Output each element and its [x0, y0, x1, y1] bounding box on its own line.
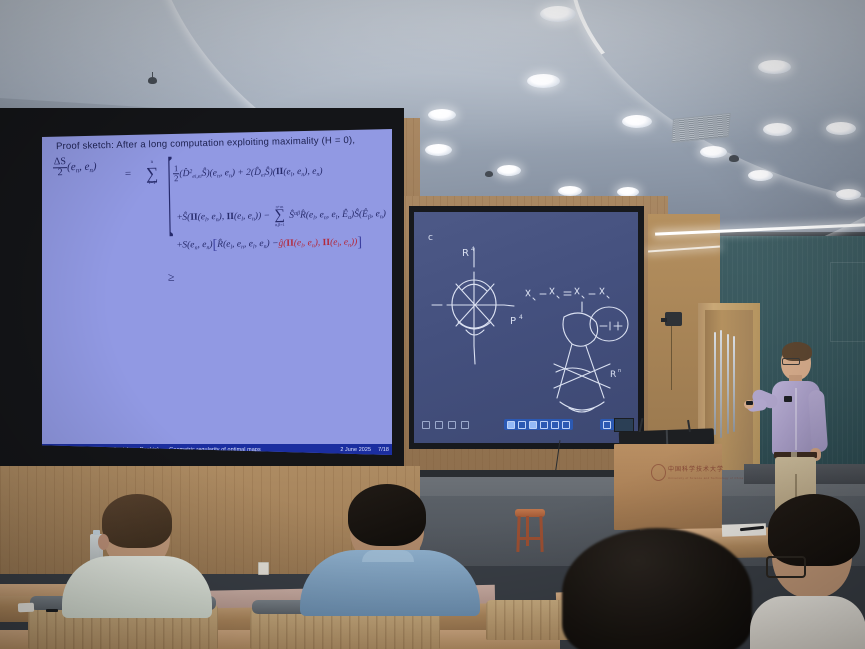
ceiling-downlight	[527, 74, 560, 88]
stool-leg	[526, 516, 529, 546]
podium-seal	[651, 464, 666, 481]
slide-summation: n ∑ l=1	[146, 161, 159, 187]
ceiling-camera	[729, 155, 739, 162]
slide-geq: ≥	[168, 270, 175, 285]
slide-sum2-lower: α,β=1	[275, 223, 286, 227]
pen-icon[interactable]	[507, 421, 515, 429]
whiteboard-label-p4: P	[510, 316, 516, 327]
slide-sum-symbol: ∑	[146, 165, 158, 181]
audience-ear	[98, 534, 109, 550]
slide-lhs-denominator: 2	[53, 168, 67, 179]
layers-icon[interactable]	[422, 421, 430, 429]
ceiling-camera-stem	[152, 72, 153, 78]
ceiling-downlight	[826, 122, 856, 135]
presenter-shirt-placket	[795, 388, 797, 450]
speaker-bracket	[661, 318, 667, 322]
plus-icon[interactable]	[603, 421, 611, 429]
eraser-icon[interactable]	[529, 421, 537, 429]
svg-text:n: n	[618, 368, 621, 374]
audience-member-3	[552, 528, 762, 649]
acoustic-panel-seam	[830, 262, 865, 342]
podium	[614, 444, 722, 530]
ceiling-downlight	[497, 165, 521, 176]
slide-lhs: ΔS 2 (en, en)	[53, 157, 97, 179]
slide-formula-line-3: +S(en, en)[R̂(el, en, el, en) −ĝ(II(el, …	[177, 237, 362, 251]
ceiling-downlight	[836, 189, 861, 200]
ceiling-camera	[485, 171, 493, 177]
audience-glasses	[766, 556, 806, 578]
whiteboard-ink: c R 4 P 4 R n	[414, 212, 638, 443]
audience-hair	[562, 528, 752, 649]
door-handle[interactable]	[714, 332, 716, 435]
slide-footer-date: 2 June 2025	[340, 447, 371, 453]
slide-formula-line-1: 12(D̂2el,elŜ)(en, en) + 2(D̂elŜ)(II(el, …	[173, 162, 323, 183]
slide-sum2-block: n+m ∑ α,β=1	[274, 205, 285, 227]
audience-member-2	[300, 488, 480, 616]
shapes-icon[interactable]	[448, 421, 456, 429]
podium-logo-text: 中国科学技术大学	[668, 464, 724, 473]
podium-logo-subtext: University of Science and Technology of …	[668, 476, 744, 480]
pen	[46, 609, 58, 612]
audience-member-4	[742, 500, 865, 649]
ceiling-downlight	[763, 123, 792, 136]
wall-cable	[671, 326, 672, 390]
ceiling-downlight	[748, 170, 773, 181]
audience-hair	[102, 494, 172, 548]
slide-footer-page: 7/18	[378, 447, 389, 453]
svg-text:4: 4	[519, 314, 523, 321]
whiteboard-label-c: c	[428, 233, 433, 243]
door-handle[interactable]	[733, 336, 735, 432]
slide-content: Proof sketch: After a long computation e…	[42, 129, 392, 455]
wall-outlet[interactable]	[258, 562, 269, 575]
digital-whiteboard[interactable]: c R 4 P 4 R n	[414, 212, 638, 443]
lecture-hall-photo: Proof sketch: After a long computation e…	[0, 0, 865, 649]
slide-formula-line-2: +Ŝ(II(el, en), II(el, en)) − n+m ∑ α,β=1…	[177, 203, 386, 229]
ceiling-downlight	[758, 60, 791, 74]
ceiling-downlight	[428, 109, 456, 121]
whiteboard-toolbar-center[interactable]	[504, 419, 573, 430]
ceiling-downlight	[425, 144, 452, 156]
audience-hair	[348, 484, 426, 546]
whiteboard-label-rn: R	[610, 370, 616, 380]
audience-member-1	[60, 498, 220, 618]
slide-sum2-symbol: ∑	[274, 209, 285, 223]
presenter-lapel-mic	[784, 396, 792, 402]
presentation-clicker[interactable]	[746, 401, 753, 405]
highlighter-icon[interactable]	[518, 421, 526, 429]
more-icon[interactable]	[562, 421, 570, 429]
ceiling-downlight	[558, 186, 582, 196]
slide-equals: =	[125, 168, 131, 180]
door-handle[interactable]	[720, 330, 722, 438]
slide-lhs-fraction: ΔS 2	[53, 157, 68, 179]
stool-stretcher	[518, 537, 542, 540]
frame-icon[interactable]	[461, 421, 469, 429]
presentation-slide: Proof sketch: After a long computation e…	[42, 129, 392, 455]
slide-footer-meta: 2 June 2025 7/18	[340, 447, 392, 453]
stool-leg	[539, 516, 543, 552]
presenter-glasses	[782, 358, 800, 365]
stool-leg	[516, 516, 520, 552]
audience-shirt	[750, 596, 865, 649]
door-handle[interactable]	[727, 334, 729, 434]
wall-speaker	[665, 312, 682, 326]
ceiling-downlight	[540, 6, 576, 22]
podium-side-monitor	[614, 418, 634, 432]
slide-heading: Proof sketch: After a long computation e…	[56, 135, 355, 152]
audience-shirt	[62, 556, 212, 618]
presenter-arm-right	[808, 390, 828, 453]
whiteboard-label-r4: R	[462, 248, 469, 259]
ceiling-camera	[148, 77, 157, 84]
audience-collar	[362, 550, 414, 562]
ceiling-downlight	[700, 146, 727, 158]
wooden-stool	[512, 509, 550, 555]
select-icon[interactable]	[540, 421, 548, 429]
settings-icon[interactable]	[435, 421, 443, 429]
paper-sheet	[18, 603, 34, 613]
whiteboard-toolbar-left[interactable]	[422, 420, 469, 430]
undo-icon[interactable]	[551, 421, 559, 429]
slide-sum-block: n ∑ l=1	[146, 161, 159, 187]
ceiling-downlight	[622, 115, 652, 128]
svg-text:4: 4	[471, 246, 475, 253]
